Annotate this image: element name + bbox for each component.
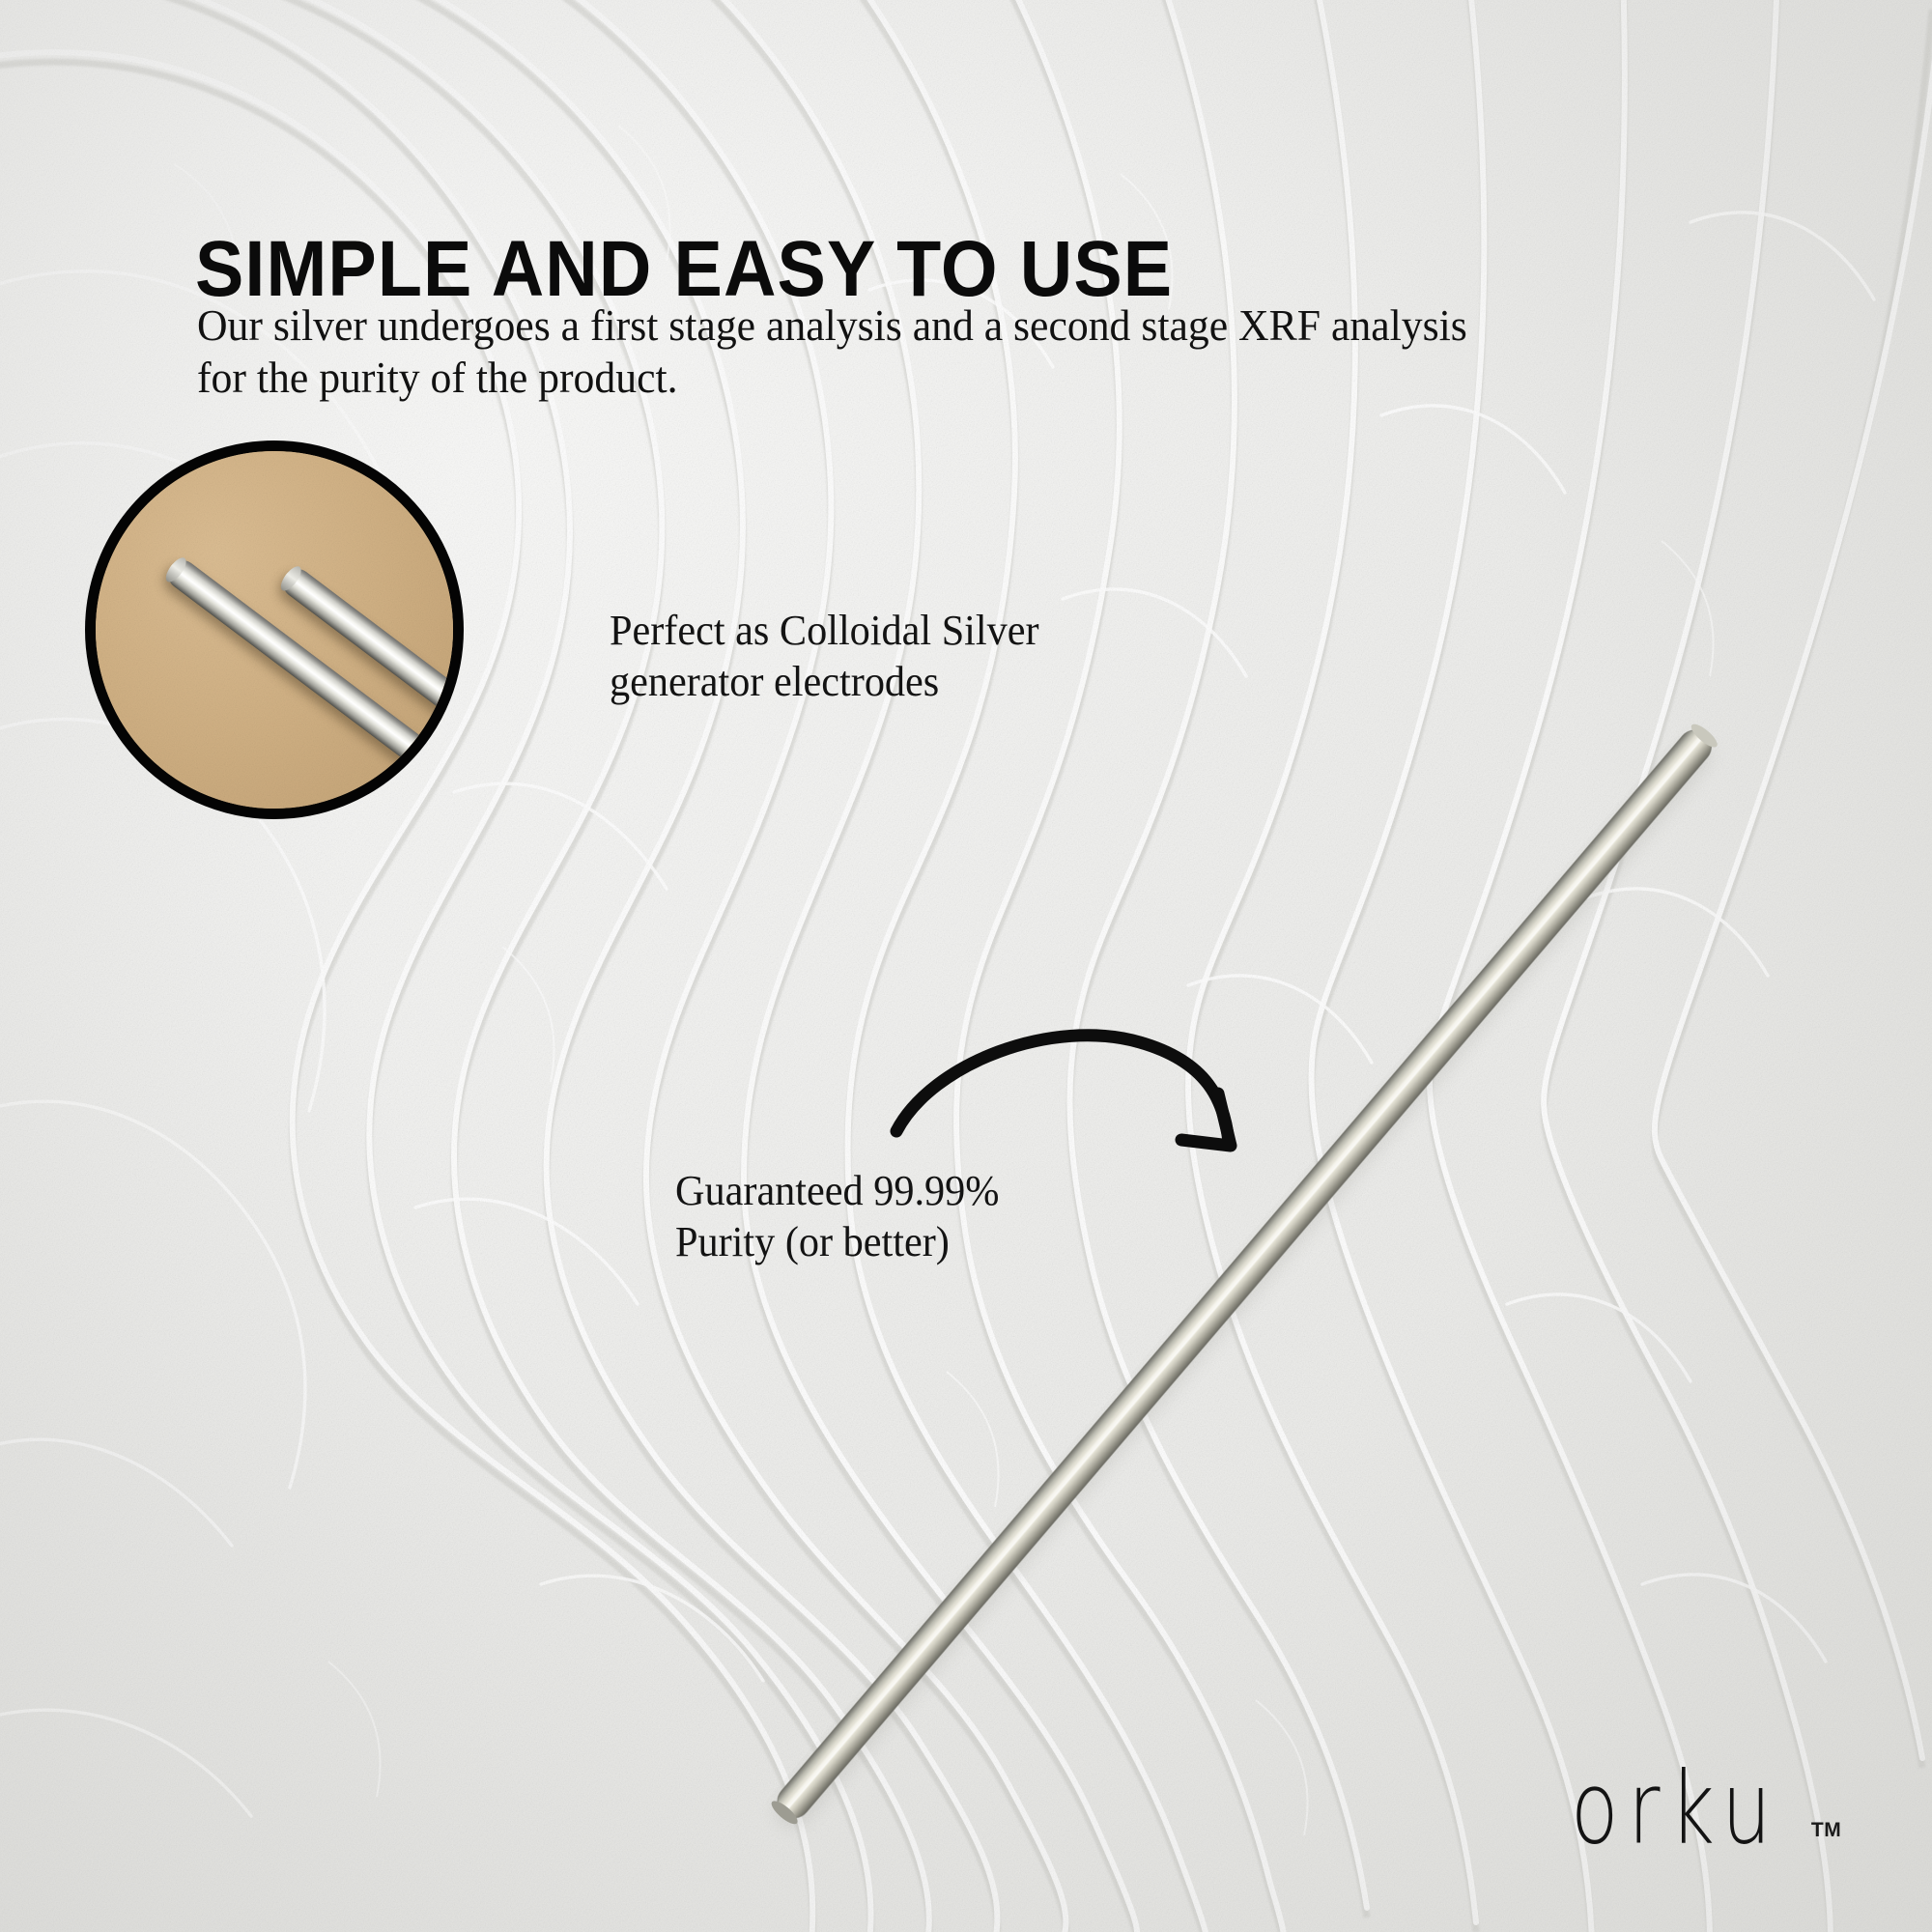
callout-electrodes: Perfect as Colloidal Silver generator el…: [610, 606, 1039, 708]
brand-logo: orku TM: [1571, 1774, 1841, 1856]
callout-electrodes-line-1: Perfect as Colloidal Silver: [610, 606, 1039, 657]
trademark-symbol: TM: [1811, 1819, 1841, 1842]
silver-rods-inset-photo: [85, 440, 464, 819]
subtitle-line-2: for the purity of the product.: [197, 352, 1702, 404]
brand-logo-wordmark: orku: [1571, 1764, 1780, 1856]
callout-purity-line-2: Purity (or better): [675, 1217, 999, 1268]
callout-purity-line-1: Guaranteed 99.99%: [675, 1166, 999, 1217]
page-title: SIMPLE AND EASY TO USE: [195, 230, 1173, 309]
callout-electrodes-line-2: generator electrodes: [610, 657, 1039, 708]
callout-purity: Guaranteed 99.99% Purity (or better): [675, 1166, 999, 1268]
subtitle-line-1: Our silver undergoes a first stage analy…: [197, 299, 1702, 352]
product-feature-card: SIMPLE AND EASY TO USE Our silver underg…: [0, 0, 1932, 1932]
subtitle: Our silver undergoes a first stage analy…: [197, 299, 1702, 404]
